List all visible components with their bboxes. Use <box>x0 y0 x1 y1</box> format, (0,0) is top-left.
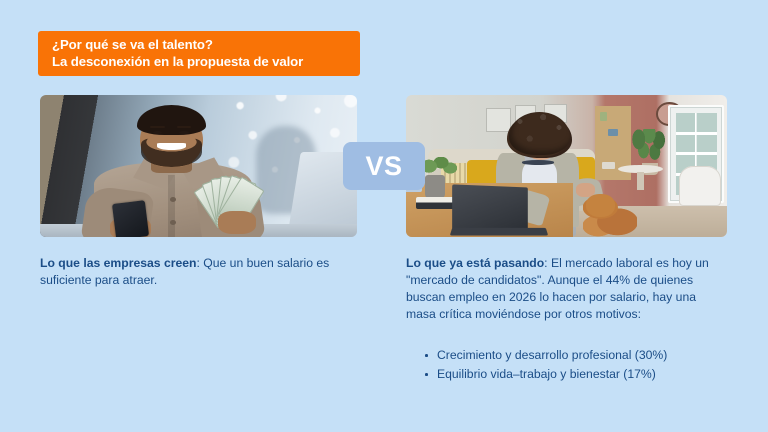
left-caption-lead: Lo que las empresas creen <box>40 256 196 270</box>
woman-necklace <box>522 160 554 164</box>
smartphone-icon <box>112 200 149 237</box>
list-item: Equilibrio vida–trabajo y bienestar (17%… <box>424 365 724 384</box>
slide-canvas: ¿Por qué se va el talento? La desconexió… <box>0 0 768 432</box>
right-photo-scene <box>406 95 727 237</box>
man-eyebrow-right <box>177 126 191 129</box>
shirt-placket <box>168 175 175 237</box>
shelf-item-3 <box>602 162 615 169</box>
side-table-leg <box>637 172 643 190</box>
man-eye-right <box>179 131 189 134</box>
dog-head <box>586 194 615 217</box>
right-caption-lead: Lo que ya está pasando <box>406 256 544 270</box>
left-photo <box>40 95 357 237</box>
potted-plant-large <box>631 129 666 166</box>
vs-badge: VS <box>343 142 425 190</box>
laptop-screen <box>452 184 528 233</box>
man-hand-right <box>218 211 256 234</box>
motives-bullet-list: Crecimiento y desarrollo profesional (30… <box>424 346 724 384</box>
right-caption: Lo que ya está pasando: El mercado labor… <box>406 255 726 323</box>
man-eyebrow-left <box>150 126 164 129</box>
desk-vase <box>425 175 444 199</box>
vs-label: VS <box>365 153 402 180</box>
shelf-item-2 <box>608 129 618 136</box>
woman-curly-hair <box>509 112 570 155</box>
man-smile <box>157 143 186 150</box>
left-caption: Lo que las empresas creen: Que un buen s… <box>40 255 354 289</box>
list-item: Crecimiento y desarrollo profesional (30… <box>424 346 724 365</box>
wall-frame-1 <box>486 108 510 133</box>
laptop-keyboard <box>450 227 549 235</box>
left-photo-scene <box>40 95 357 237</box>
man-eye-left <box>153 131 163 134</box>
right-photo <box>406 95 727 237</box>
title-line-1: ¿Por qué se va el talento? <box>52 37 360 54</box>
title-banner: ¿Por qué se va el talento? La desconexió… <box>38 31 360 76</box>
shelf-item-1 <box>600 112 607 121</box>
title-line-2: La desconexión en la propuesta de valor <box>52 54 360 71</box>
white-chair <box>679 166 721 206</box>
